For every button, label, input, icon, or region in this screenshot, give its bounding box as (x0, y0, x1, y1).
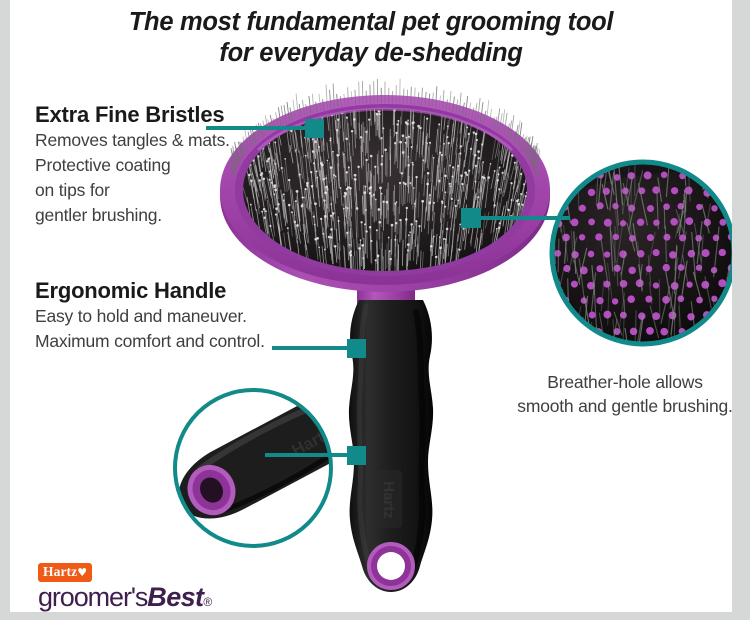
callout-handle: Ergonomic Handle Easy to hold and maneuv… (35, 278, 305, 354)
heart-icon: ♥ (77, 566, 87, 579)
infographic-page: The most fundamental pet grooming tool f… (0, 0, 750, 620)
callout-bristles-line-0: Removes tangles & mats. (35, 128, 265, 153)
callout-bristles-line-1: Protective coating (35, 153, 265, 178)
brush-handle: Hartz (349, 268, 433, 592)
brush-head (220, 79, 550, 292)
wordmark-groomers: groomer's (38, 582, 147, 612)
wordmark-best: Best (147, 582, 203, 612)
hang-hole (368, 543, 414, 589)
magnifier-bristle-detail (544, 142, 732, 375)
callout-bristles-line-3: gentler brushing. (35, 203, 265, 228)
callout-bristles: Extra Fine Bristles Removes tangles & ma… (35, 102, 265, 228)
infographic-canvas: The most fundamental pet grooming tool f… (10, 0, 732, 612)
callout-handle-line-1: Maximum comfort and control. (35, 329, 305, 354)
caption-breather-hole: Breather-hole allows smooth and gentle b… (508, 370, 732, 418)
caption-breather-line-1: Breather-hole allows (508, 370, 732, 394)
grip-embossed-logo: Hartz (376, 470, 402, 528)
connector-marker-breather (461, 208, 481, 228)
brand-logo: Hartz♥ groomer'sBest® (38, 563, 212, 612)
hartz-badge-text: Hartz (43, 564, 77, 579)
hartz-badge: Hartz♥ (38, 563, 92, 582)
connector-marker-handle (347, 339, 366, 358)
callout-handle-line-0: Easy to hold and maneuver. (35, 304, 305, 329)
callout-bristles-title: Extra Fine Bristles (35, 102, 265, 127)
groomers-best-wordmark: groomer'sBest® (38, 583, 212, 612)
magnifier-handle-detail: Hartz (167, 390, 359, 546)
callout-bristles-line-2: on tips for (35, 178, 265, 203)
callout-handle-title: Ergonomic Handle (35, 278, 305, 303)
svg-text:Hartz: Hartz (380, 481, 397, 519)
connector-marker-handle-detail (347, 446, 366, 465)
registered-mark-icon: ® (203, 595, 212, 609)
caption-breather-line-2: smooth and gentle brushing. (508, 394, 732, 418)
connector-marker-bristles (305, 119, 324, 138)
